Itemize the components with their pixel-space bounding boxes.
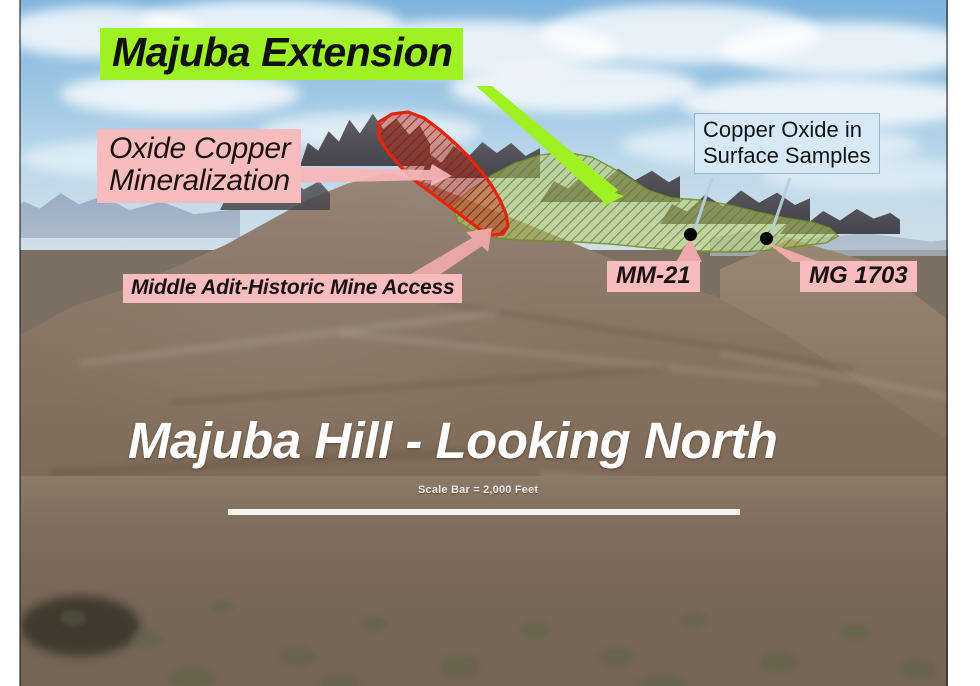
- annotated-photo-page: Majuba Extension Oxide Copper Mineraliza…: [0, 0, 980, 686]
- majuba-extension-callout: Majuba Extension: [100, 28, 463, 80]
- sagebrush: [840, 624, 870, 640]
- sagebrush: [60, 610, 86, 626]
- left-margin: [0, 0, 20, 686]
- sagebrush: [170, 668, 214, 686]
- sample-label-mg-1703: MG 1703: [800, 261, 917, 292]
- sample-dot-mg-1703: [760, 232, 773, 245]
- photo-right-edge: [946, 0, 948, 686]
- surface-samples-callout: Copper Oxide in Surface Samples: [694, 113, 880, 174]
- oxide-copper-callout: Oxide Copper Mineralization: [97, 129, 301, 203]
- sagebrush: [680, 612, 708, 628]
- dark-brush-patch: [20, 596, 140, 656]
- sagebrush: [280, 646, 316, 666]
- sample-label-mm-21: MM-21: [607, 261, 700, 292]
- sagebrush: [360, 616, 388, 632]
- sample-dot-mm-21: [684, 228, 697, 241]
- scale-bar-caption: Scale Bar = 2,000 Feet: [418, 485, 538, 497]
- sagebrush: [900, 660, 936, 678]
- sagebrush: [600, 648, 634, 666]
- sagebrush: [130, 630, 162, 648]
- sagebrush: [760, 652, 798, 672]
- photo-title: Majuba Hill - Looking North: [128, 414, 777, 468]
- photo-left-edge: [19, 0, 21, 686]
- foreground-terrain: [20, 476, 948, 686]
- right-margin: [948, 0, 980, 686]
- sagebrush: [520, 622, 550, 638]
- middle-adit-callout: Middle Adit-Historic Mine Access: [123, 274, 462, 303]
- sagebrush: [440, 656, 480, 676]
- sagebrush: [210, 600, 234, 614]
- scale-bar: [228, 509, 740, 515]
- cloud: [450, 64, 700, 112]
- landscape-photograph: [20, 0, 948, 686]
